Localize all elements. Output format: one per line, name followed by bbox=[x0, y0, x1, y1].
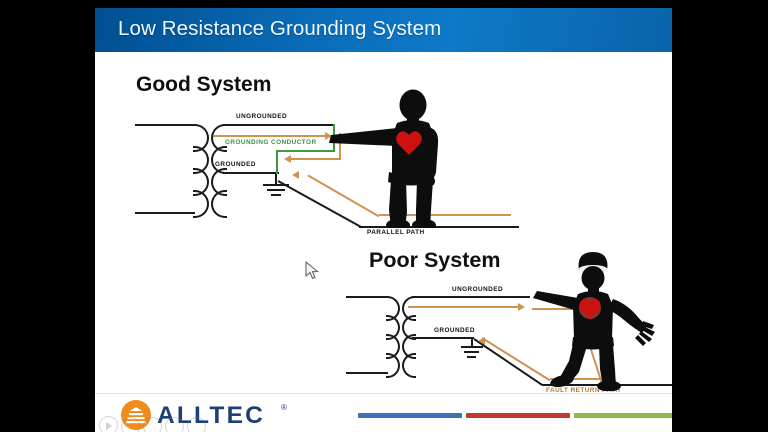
current-arrow-ungrounded bbox=[213, 135, 327, 137]
slide-canvas: Low Resistance Grounding System Good Sys… bbox=[95, 8, 672, 432]
trademark-symbol: ® bbox=[281, 403, 287, 412]
person-silhouette-shocked bbox=[533, 251, 667, 391]
grounding-conductor-down bbox=[276, 150, 278, 174]
grounding-conductor-label: GROUNDING CONDUCTOR bbox=[225, 139, 317, 146]
ground-symbol bbox=[267, 189, 285, 191]
volume-button[interactable] bbox=[143, 417, 162, 432]
person-silhouette-safe bbox=[327, 88, 457, 228]
transformer-lead-bottom-left bbox=[346, 372, 388, 374]
ground-symbol bbox=[271, 194, 281, 196]
page-title: Low Resistance Grounding System bbox=[118, 17, 441, 41]
accent-bar-red bbox=[466, 413, 570, 418]
ungrounded-wire bbox=[412, 296, 530, 298]
current-arrow-ungrounded bbox=[408, 306, 520, 308]
parallel-path-label: PARALLEL PATH bbox=[367, 229, 425, 236]
coil-bump bbox=[211, 190, 227, 218]
current-arrow-head bbox=[284, 155, 291, 163]
settings-button[interactable] bbox=[165, 417, 184, 432]
ground-symbol bbox=[467, 356, 476, 358]
grounded-wire bbox=[412, 337, 474, 339]
current-arrow-head bbox=[292, 171, 299, 179]
grounded-label: GROUNDED bbox=[434, 327, 475, 334]
good-system-title: Good System bbox=[136, 73, 271, 97]
play-button[interactable] bbox=[99, 416, 118, 432]
accent-bar-green bbox=[574, 413, 672, 418]
grounded-wire bbox=[223, 172, 279, 174]
footer-divider bbox=[95, 393, 672, 394]
slide-header-bar: Low Resistance Grounding System bbox=[95, 8, 672, 52]
transformer-lead-bottom-left bbox=[135, 212, 195, 214]
coil-bump bbox=[386, 353, 400, 378]
mouse-cursor bbox=[305, 261, 321, 281]
current-arrow-head bbox=[478, 337, 485, 345]
ungrounded-label: UNGROUNDED bbox=[452, 286, 503, 293]
grounded-label: GROUNDED bbox=[215, 161, 256, 168]
poor-system-title: Poor System bbox=[369, 248, 500, 273]
coil-bump bbox=[402, 353, 416, 378]
coil-bump bbox=[193, 190, 209, 218]
transformer-lead-top-left bbox=[346, 296, 388, 298]
transformer-lead-top-left bbox=[135, 124, 195, 126]
current-arrow-head bbox=[518, 303, 525, 311]
fullscreen-button[interactable] bbox=[187, 417, 206, 432]
ungrounded-label: UNGROUNDED bbox=[236, 113, 287, 120]
rewind-button[interactable] bbox=[121, 417, 140, 432]
ground-symbol bbox=[461, 346, 483, 348]
video-player-stage: Low Resistance Grounding System Good Sys… bbox=[0, 0, 768, 432]
accent-bar-blue bbox=[358, 413, 462, 418]
ungrounded-wire bbox=[223, 124, 335, 126]
ground-symbol bbox=[464, 351, 479, 353]
